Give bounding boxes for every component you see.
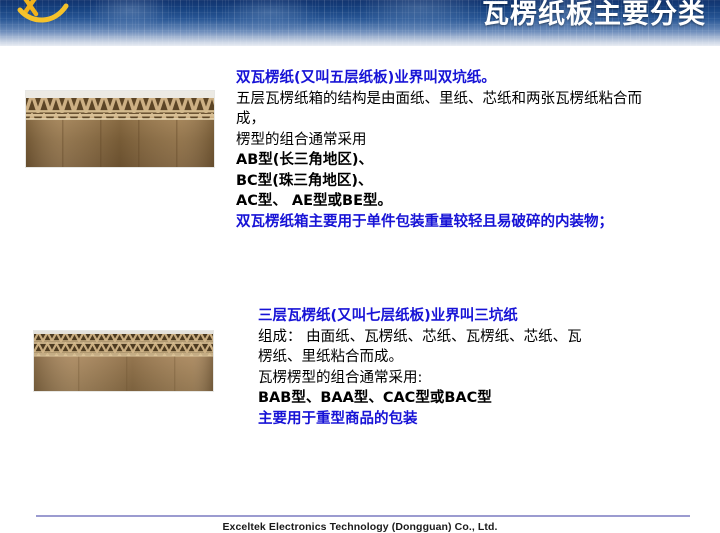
text-line: AC型、 AE型或BE型。 — [236, 191, 720, 212]
slide-header-banner: 瓦楞纸板主要分类 — [0, 0, 720, 46]
text-line: 三层瓦楞纸(又叫七层纸板)业界叫三坑纸 — [258, 306, 720, 327]
text-line: 楞纸、里纸粘合而成。 — [258, 347, 720, 368]
text-line: AB型(长三角地区)、 — [236, 150, 720, 171]
footer-company-name: Exceltek Electronics Technology (Donggua… — [0, 521, 720, 533]
text-line: BAB型、BAA型、CAC型或BAC型 — [258, 388, 720, 409]
triple-wall-corrugated-board-photo — [33, 330, 214, 392]
corrugated-cross-section-graphic — [26, 91, 214, 167]
text-line: 五层瓦楞纸箱的结构是由面纸、里纸、芯纸和两张瓦楞纸粘合而 — [236, 89, 720, 110]
footer-divider — [36, 515, 690, 517]
text-line: 主要用于重型商品的包装 — [258, 409, 720, 430]
exceltek-swoosh-logo-icon — [16, 0, 72, 28]
corrugated-cross-section-graphic — [34, 331, 213, 391]
text-line: BC型(珠三角地区)、 — [236, 171, 720, 192]
slide-content-area: 双瓦楞纸(又叫五层纸板)业界叫双坑纸。 五层瓦楞纸箱的结构是由面纸、里纸、芯纸和… — [0, 46, 720, 493]
text-line: 楞型的组合通常采用 — [236, 130, 720, 151]
text-line: 双瓦楞纸箱主要用于单件包装重量较轻且易破碎的内装物； — [236, 212, 720, 233]
double-wall-corrugated-board-photo — [25, 90, 215, 168]
text-line: 双瓦楞纸(又叫五层纸板)业界叫双坑纸。 — [236, 68, 720, 89]
text-line: 瓦楞楞型的组合通常采用: — [258, 368, 720, 389]
double-wall-text-block: 双瓦楞纸(又叫五层纸板)业界叫双坑纸。 五层瓦楞纸箱的结构是由面纸、里纸、芯纸和… — [236, 68, 720, 232]
slide-title: 瓦楞纸板主要分类 — [482, 0, 706, 31]
text-line: 成， — [236, 109, 720, 130]
triple-wall-text-block: 三层瓦楞纸(又叫七层纸板)业界叫三坑纸 组成： 由面纸、瓦楞纸、芯纸、瓦楞纸、芯… — [258, 306, 720, 429]
text-line: 组成： 由面纸、瓦楞纸、芯纸、瓦楞纸、芯纸、瓦 — [258, 327, 720, 348]
